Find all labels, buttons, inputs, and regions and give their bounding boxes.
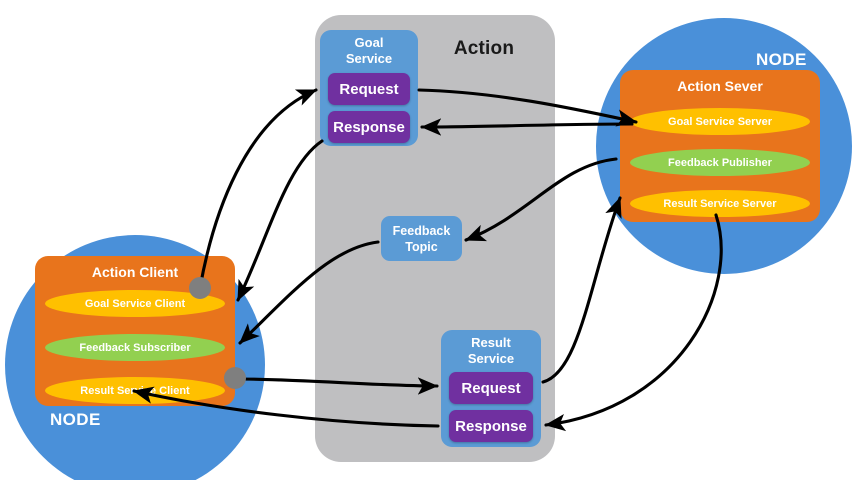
interface-feedback-subscriber[interactable]: Feedback Subscriber [45,334,225,361]
interface-feedback-publisher[interactable]: Feedback Publisher [630,149,810,176]
diagram-canvas: Action Action Client Goal Service Client… [0,0,854,480]
node-client-label: NODE [50,410,101,430]
interface-result-service-server[interactable]: Result Service Server [630,190,810,217]
goal-service-title-line2: Service [346,51,392,66]
node-server-label: NODE [756,50,807,70]
action-server-panel: Action Sever Goal Service Server Feedbac… [620,70,820,222]
interface-goal-service-server[interactable]: Goal Service Server [630,108,810,135]
junction-dot-goal-service-client [189,277,211,299]
goal-service-box: Goal Service Request Response [320,30,418,146]
arrow-goal-response-to-client [238,141,322,300]
feedback-topic-line1: Feedback [393,223,451,239]
feedback-topic-box[interactable]: Feedback Topic [381,216,462,261]
interface-result-service-client[interactable]: Result Service Client [45,377,225,404]
junction-dot-result-service-client [224,367,246,389]
result-service-response[interactable]: Response [449,410,533,442]
goal-service-response[interactable]: Response [328,111,410,143]
action-server-title: Action Sever [620,78,820,94]
action-group-label: Action [428,38,540,60]
result-service-title: Result Service [441,335,541,367]
result-service-title-line1: Result [471,335,511,350]
goal-service-title: Goal Service [320,35,418,67]
result-service-title-line2: Service [468,351,514,366]
result-service-box: Result Service Request Response [441,330,541,447]
result-service-request[interactable]: Request [449,372,533,404]
feedback-topic-line2: Topic [405,239,437,255]
goal-service-request[interactable]: Request [328,73,410,105]
goal-service-title-line1: Goal [355,35,384,50]
